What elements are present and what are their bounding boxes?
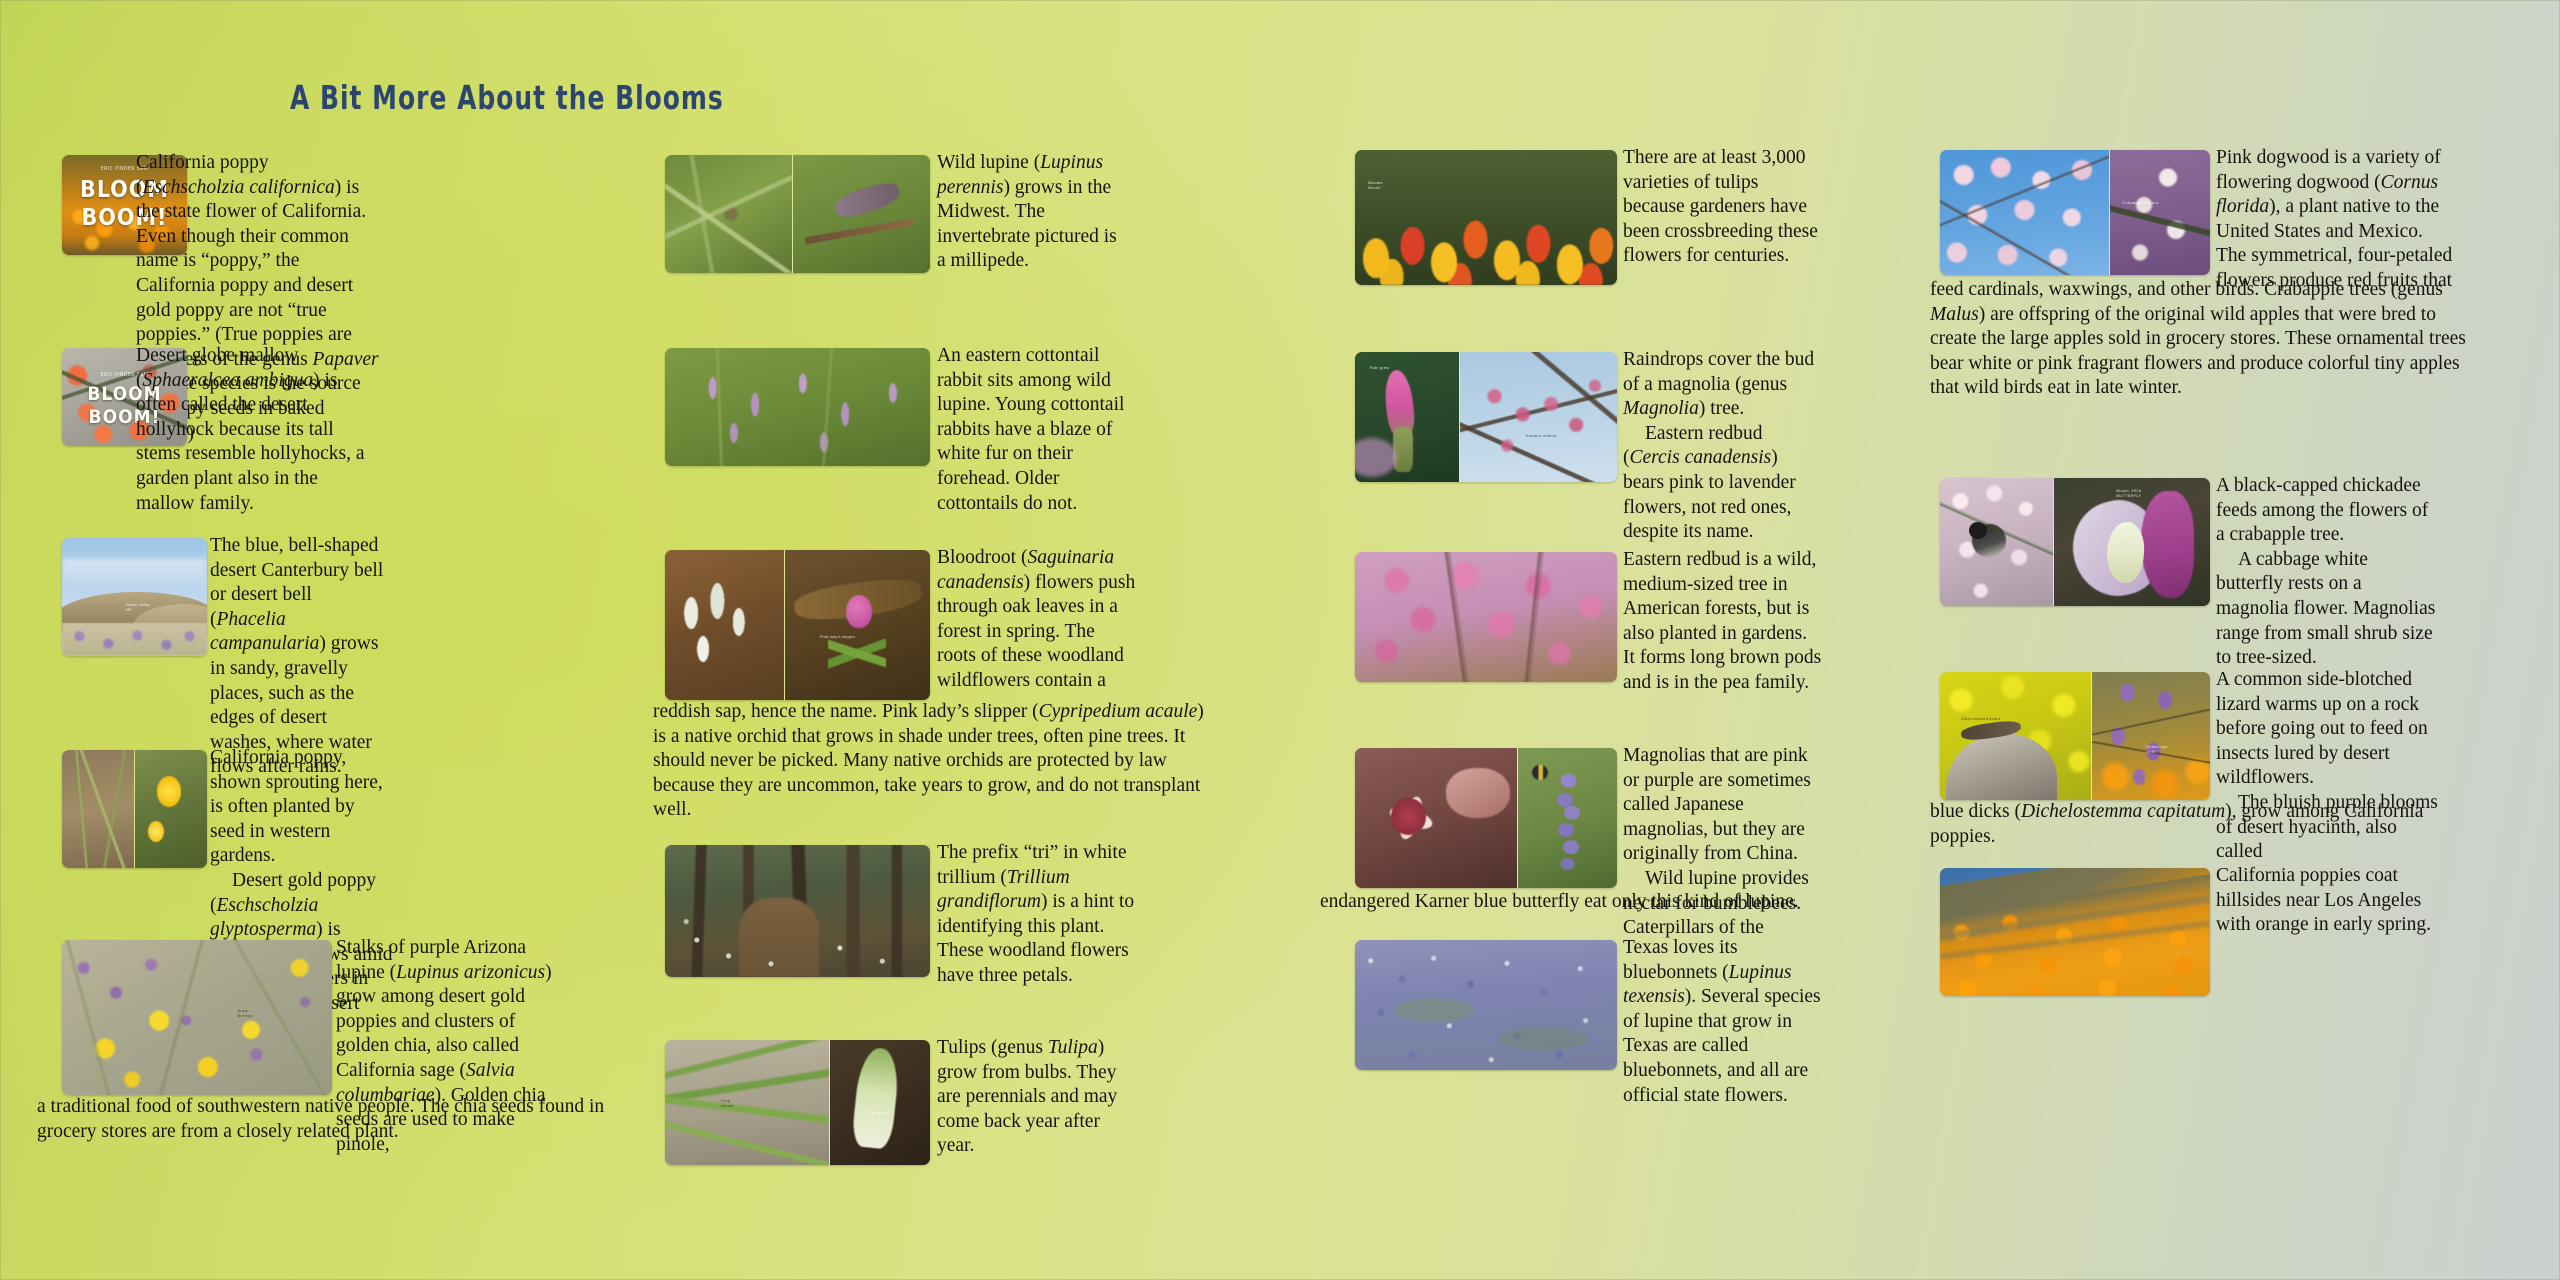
photo-pair-wild-lupine-plant-and-millipede xyxy=(665,155,930,273)
photo-california-poppy-hillside: BOOM! xyxy=(1940,868,2210,996)
book-spread-page: A Bit More About the Blooms ERIC PINDER … xyxy=(0,0,2560,1280)
caption-poppy-hillside: California poppies coat hillsides near L… xyxy=(2216,865,2431,935)
photo-woodland-trail-with-trillium xyxy=(665,845,930,977)
photo-credit: Tulipshoots xyxy=(721,1098,734,1108)
photo-credit: Anza-Borrego xyxy=(238,1008,254,1018)
photo-credit: Crabapple flowers xyxy=(2122,200,2158,205)
caption-texas-bluebonnets: Texas loves its bluebonnets (Lupinus tex… xyxy=(1623,937,1821,1106)
caption-desert-canterbury-bell: The blue, bell-shaped desert Canterbury … xyxy=(210,535,383,777)
photo-pair-chickadee-in-crabapple-and-cabbage-white-butterfly: Bloom, 2018BUTTERFLY xyxy=(1940,478,2210,606)
photo-desert-hills-with-purple-wildflowers: Death ValleyNP xyxy=(62,538,207,656)
caption-cottontail-rabbit: An eastern cottontail rabbit sits among … xyxy=(937,345,1124,514)
photo-pair-pink-magnolia-and-bumblebee-on-lupine xyxy=(1355,748,1617,888)
caption-tulips: Tulips (genus Tulipa) grow from bulbs. T… xyxy=(937,1037,1117,1156)
caption-magnolia-bud: Raindrops cover the bud of a magnolia (g… xyxy=(1623,349,1814,419)
photo-credit: Bloom, 2018BUTTERFLY xyxy=(2116,488,2141,498)
caption-karner-blue-runon: endangered Karner blue butterfly eat onl… xyxy=(1320,891,1799,912)
caption-bloodroot-runon: reddish sap, hence the name. xyxy=(653,701,877,722)
caption-eastern-redbud: Eastern redbud (Cercis canadensis) bears… xyxy=(1623,422,1823,545)
caption-side-blotched-lizard: A common side-blotched lizard warms up o… xyxy=(2216,669,2428,788)
caption-california-poppy-sprouting: California poppy, shown sprouting here, … xyxy=(210,747,383,866)
caption-tulip-varieties: There are at least 3,000 varieties of tu… xyxy=(1623,147,1818,266)
caption-cabbage-white-butterfly: A cabbage white butterfly rests on a mag… xyxy=(2216,548,2438,671)
photo-pair-magnolia-bud-and-eastern-redbud: Rain grew Eastern redbud xyxy=(1355,352,1617,482)
photo-credit: Death ValleyNP xyxy=(126,602,151,612)
page-title: A Bit More About the Blooms xyxy=(290,78,724,117)
caption-black-capped-chickadee: A black-capped chickadee feeds among the… xyxy=(2216,475,2428,545)
photo-red-and-yellow-tulips: BloomsBoom! xyxy=(1355,150,1617,285)
photo-eastern-redbud-tree-in-bloom xyxy=(1355,552,1617,682)
photo-pair-lizard-on-rock-and-desert-hyacinth: Side-blotched lizard Desert hya-cinth xyxy=(1940,672,2210,800)
caption-pink-dogwood: Pink dogwood is a variety of flowering d… xyxy=(2216,147,2452,291)
photo-credit: Rain grew xyxy=(1370,365,1390,370)
photo-pair-pink-dogwood-and-crabapple-blossoms: Crabapple flowers xyxy=(1940,150,2210,275)
photo-credit: Side-blotched lizard xyxy=(1961,716,2000,721)
photo-credit: Eastern redbud xyxy=(1526,433,1556,438)
caption-dogwood-runon: feed cardinals, waxwings, and other bird… xyxy=(1930,279,2259,300)
photo-credit: Tulip sprout xyxy=(866,1110,889,1115)
photo-pair-poppy-seedlings-and-yellow-poppy xyxy=(62,750,207,868)
photo-credit: Pink lady's slipper xyxy=(820,634,856,639)
caption-desert-globe-mallow: Desert globe mallow (Sphaeralcea ambigua… xyxy=(136,345,365,514)
caption-blue-dicks-runon: blue dicks (Dichelostemma capitatum), gr… xyxy=(1930,801,2423,847)
photo-wild-lupine-meadow xyxy=(665,348,930,466)
photo-credit: BloomsBoom! xyxy=(1368,180,1383,190)
photo-texas-bluebonnet-field xyxy=(1355,940,1617,1070)
caption-white-trillium: The prefix “tri” in white trillium (Tril… xyxy=(937,842,1134,986)
caption-wild-lupine: Wild lupine (Lupinus perennis) grows in … xyxy=(937,152,1117,271)
photo-arizona-lupine-and-gold-poppies: Anza-Borrego xyxy=(62,940,332,1095)
photo-credit: Desert hya-cinth xyxy=(2146,744,2169,754)
caption-bloodroot: Bloodroot (Saguinaria canadensis) flower… xyxy=(937,547,1135,691)
photo-pair-tulip-shoots-and-tulip-bulb: Tulipshoots Tulip sprout xyxy=(665,1040,930,1165)
caption-arizona-lupine-runon: a traditional food of southwestern nativ… xyxy=(37,1096,604,1142)
photo-pair-bloodroot-and-pink-ladys-slipper: Pink lady's slipper xyxy=(665,550,930,700)
caption-eastern-redbud-tree: Eastern redbud is a wild, medium-sized t… xyxy=(1623,549,1821,693)
caption-japanese-magnolia: Magnolias that are pink or purple are so… xyxy=(1623,745,1811,864)
